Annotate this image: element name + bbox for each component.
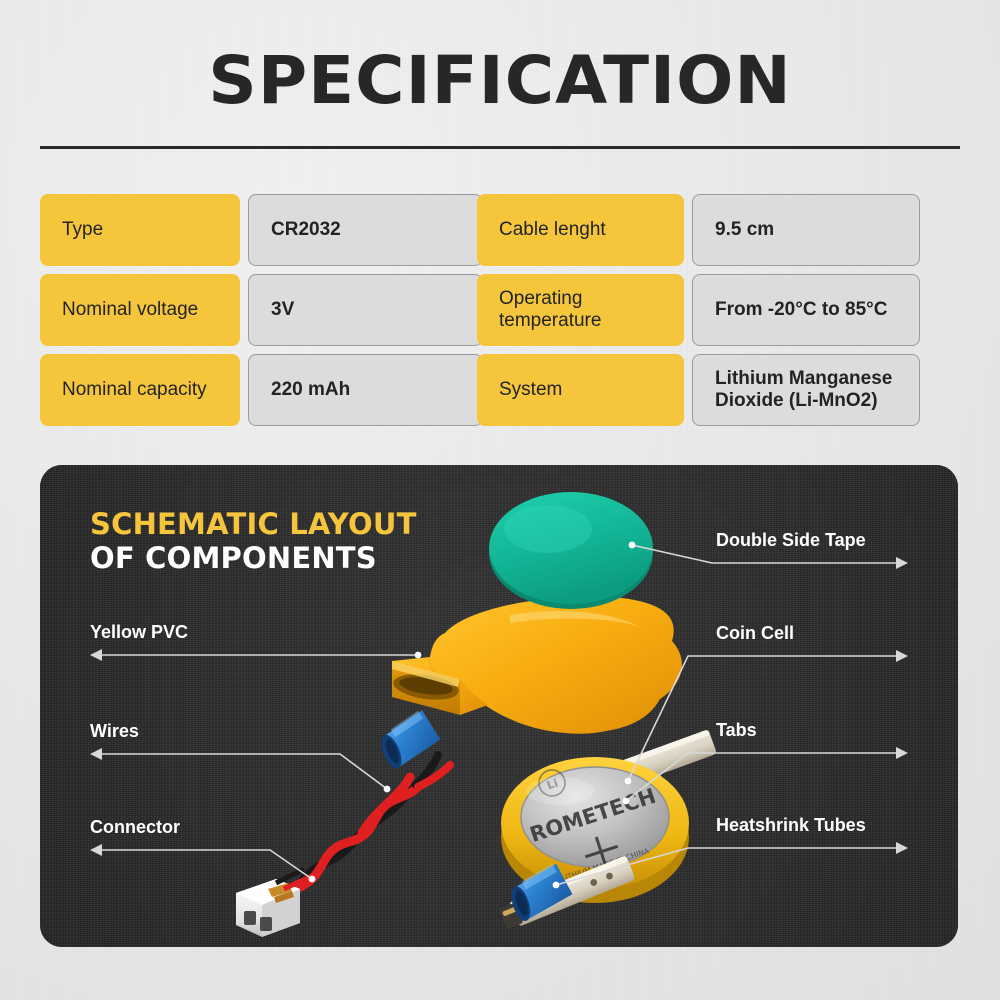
callout-label-wires: Wires	[90, 721, 139, 742]
table-row: Operating temperature From -20°C to 85°C	[477, 274, 920, 346]
spec-value: From -20°C to 85°C	[692, 274, 920, 346]
schematic-panel: SCHEMATIC LAYOUT OF COMPONENTS	[40, 465, 958, 947]
page-title: SPECIFICATION	[0, 48, 1000, 114]
spec-label: Type	[40, 194, 240, 266]
spec-label: Operating temperature	[477, 274, 684, 346]
spec-column-right: Cable lenght 9.5 cm Operating temperatur…	[477, 194, 920, 434]
spec-value: Lithium Manganese Dioxide (Li-MnO2)	[692, 354, 920, 426]
spec-label: Cable lenght	[477, 194, 684, 266]
spec-column-left: Type CR2032 Nominal voltage 3V Nominal c…	[40, 194, 483, 434]
callout-label-yellow-pvc: Yellow PVC	[90, 622, 188, 643]
callout-label-coin-cell: Coin Cell	[716, 623, 794, 644]
spec-label: Nominal capacity	[40, 354, 240, 426]
callout-label-connector: Connector	[90, 817, 180, 838]
spec-label: System	[477, 354, 684, 426]
table-row: Cable lenght 9.5 cm	[477, 194, 920, 266]
spec-value: 3V	[248, 274, 483, 346]
spec-label: Nominal voltage	[40, 274, 240, 346]
spec-value: CR2032	[248, 194, 483, 266]
spec-value: 220 mAh	[248, 354, 483, 426]
table-row: System Lithium Manganese Dioxide (Li-MnO…	[477, 354, 920, 426]
callout-label-heatshrink-tubes: Heatshrink Tubes	[716, 815, 866, 836]
table-row: Nominal voltage 3V	[40, 274, 483, 346]
callout-label-tabs: Tabs	[716, 720, 757, 741]
title-divider	[40, 146, 960, 149]
table-row: Nominal capacity 220 mAh	[40, 354, 483, 426]
callout-label-double-side-tape: Double Side Tape	[716, 530, 866, 551]
spec-value: 9.5 cm	[692, 194, 920, 266]
table-row: Type CR2032	[40, 194, 483, 266]
